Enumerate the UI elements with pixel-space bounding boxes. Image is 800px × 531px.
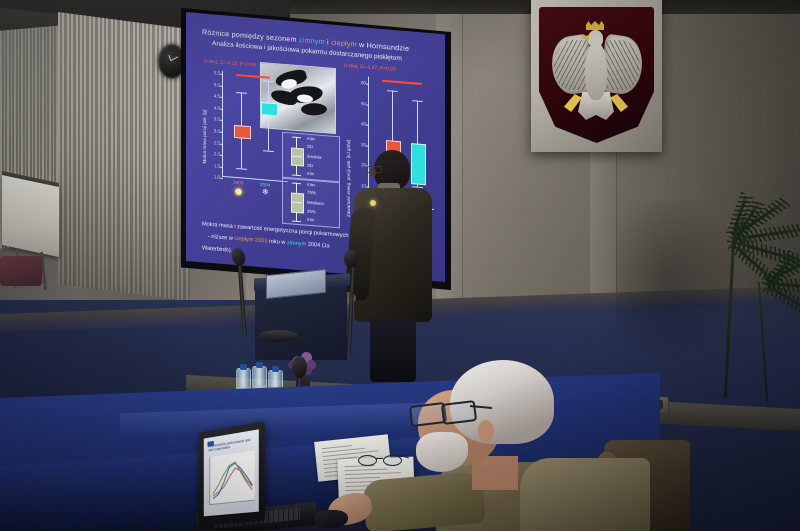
attendee-shoulder <box>520 458 650 531</box>
conference-chair <box>0 256 42 286</box>
attendee-ear <box>478 420 494 442</box>
legend-item: min <box>307 217 314 223</box>
presenter-badge <box>370 200 376 206</box>
seated-attendee <box>400 358 650 531</box>
ytick-mark <box>220 85 223 86</box>
ytick-mark <box>220 109 223 110</box>
potted-palm <box>636 170 800 400</box>
slide-title-warm: ciepłym <box>331 38 357 49</box>
significance-bar-right <box>382 80 422 85</box>
penguin-photo <box>260 62 336 134</box>
blind-slat <box>133 22 135 294</box>
blind-slat <box>84 15 86 287</box>
wet-mass-xaxis <box>222 176 288 182</box>
ytick-label: 1.5 <box>202 162 220 168</box>
flipchart-easel <box>2 175 59 257</box>
ytick-label: 60 <box>352 79 366 85</box>
legend-mean-sd: max SD średnia SD min <box>282 132 340 183</box>
text-line <box>345 477 380 479</box>
blind-slat <box>146 24 148 296</box>
attendee-arm <box>362 471 486 531</box>
legend-item: Mediana <box>307 200 324 206</box>
stat-annotation-right: U test, Z=-3.47, P<0.05 <box>344 63 396 73</box>
wet-mass-yaxis <box>222 71 223 177</box>
text-line <box>345 469 388 472</box>
legend-item: max <box>307 182 315 188</box>
ytick-mark <box>366 124 369 125</box>
blind-slat <box>89 16 91 288</box>
legend-item: 75% <box>307 190 316 196</box>
blind-slat <box>124 21 126 293</box>
blind-slat <box>93 17 95 289</box>
blind-slat <box>115 20 117 292</box>
ytick-label: 4.5 <box>202 92 220 98</box>
laptop[interactable]: Reproductive performance and diet compos… <box>199 421 265 525</box>
laptop-line-chart <box>209 450 254 505</box>
blind-slat <box>120 20 122 292</box>
ytick-mark <box>220 143 223 144</box>
ytick-mark <box>220 74 223 75</box>
cap-bottom-2003-left <box>236 168 247 170</box>
snowflake-icon: ❄ <box>262 188 269 196</box>
cap-bottom-2004-left <box>263 150 274 152</box>
ytick-mark <box>220 97 223 98</box>
slide-footer-line3: Waterbirds). <box>202 245 232 253</box>
laptop-slide-title: Reproductive performance and diet compos… <box>208 437 252 452</box>
ytick-mark <box>220 155 223 156</box>
ytick-label: 1.0 <box>202 174 220 180</box>
ytick-mark <box>220 178 223 179</box>
ytick-mark <box>220 167 223 168</box>
legend-item: max <box>307 136 315 142</box>
blind-slat <box>106 18 108 290</box>
blind-slat <box>128 21 130 293</box>
box-2004-left <box>261 102 278 116</box>
legend-item: min <box>307 171 314 177</box>
slide-title-cold: zimnym <box>299 35 325 46</box>
ytick-mark <box>220 132 223 133</box>
legend-item: średnia <box>307 154 321 160</box>
blind-slat <box>111 19 113 291</box>
blind-slat <box>76 14 78 286</box>
ytick-label: 30 <box>352 141 366 147</box>
ytick-mark <box>366 83 369 84</box>
reading-glasses <box>358 454 402 466</box>
presenter-ear <box>370 168 376 177</box>
standing-presenter <box>348 150 440 382</box>
legend-median-quartiles: max 75% Mediana 25% min <box>282 178 340 229</box>
blind-slat <box>67 13 69 285</box>
conference-room-photo: Różnice pomiędzy sezonem zimnym i ciepły… <box>0 0 800 531</box>
laptop-screen[interactable]: Reproductive performance and diet compos… <box>204 429 259 516</box>
blind-slat <box>137 22 139 294</box>
xtick-2003: 2003 <box>233 180 243 186</box>
ytick-mark <box>220 120 223 121</box>
polish-coat-of-arms <box>531 0 662 152</box>
blind-slat <box>150 24 152 296</box>
ytick-label: 40 <box>352 120 366 126</box>
legend-item: 25% <box>307 209 316 215</box>
ytick-mark <box>366 145 369 146</box>
white-eagle-icon <box>550 14 644 132</box>
sun-icon <box>235 188 242 196</box>
microphone-head <box>344 250 357 268</box>
blind-slat <box>71 14 73 286</box>
legend-item: SD <box>307 144 313 149</box>
ytick-label: 50 <box>352 100 366 106</box>
stat-annotation-left: U test, Z=-4.12, P<0.05 <box>204 58 256 68</box>
box-2003-left <box>234 125 251 139</box>
computer-mouse[interactable] <box>314 510 348 528</box>
blind-slat <box>98 17 100 289</box>
attendee-glasses <box>441 400 477 425</box>
blind-slat <box>155 25 157 297</box>
microphone-head <box>292 356 307 378</box>
ytick-label: 5.5 <box>202 69 220 75</box>
blind-slat <box>102 18 104 290</box>
text-line <box>345 472 401 475</box>
line-chart-svg <box>210 450 255 504</box>
blind-slat <box>80 15 82 287</box>
legend-item: SD <box>307 163 313 168</box>
microphone-base <box>258 330 298 342</box>
blind-slat <box>142 23 144 295</box>
blind-slat <box>62 13 64 285</box>
ytick-label: 5.0 <box>202 81 220 87</box>
ytick-mark <box>366 104 369 105</box>
